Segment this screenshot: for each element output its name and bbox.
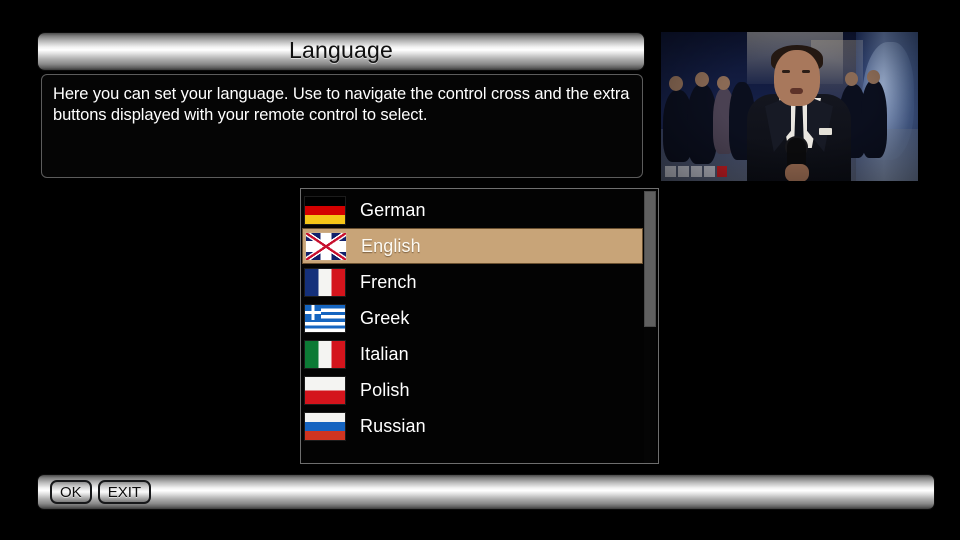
language-row-polish[interactable]: Polish: [302, 372, 643, 408]
language-row-french[interactable]: French: [302, 264, 643, 300]
flag-greece-icon: [305, 305, 345, 332]
ok-button[interactable]: OK: [50, 480, 92, 504]
language-row-greek[interactable]: Greek: [302, 300, 643, 336]
flag-united-kingdom-icon: [306, 233, 346, 260]
language-row-italian[interactable]: Italian: [302, 336, 643, 372]
language-label: Greek: [360, 309, 410, 327]
language-list[interactable]: GermanEnglishFrenchGreekItalianPolishRus…: [300, 188, 659, 464]
exit-button[interactable]: EXIT: [98, 480, 151, 504]
language-label: Russian: [360, 417, 426, 435]
scrollbar-track[interactable]: [644, 191, 656, 463]
language-label: French: [360, 273, 417, 291]
language-label: Italian: [360, 345, 409, 363]
description-text: Here you can set your language. Use to n…: [53, 84, 630, 126]
page-title: Language: [289, 39, 393, 62]
description-panel: Here you can set your language. Use to n…: [41, 74, 643, 178]
flag-france-icon: [305, 269, 345, 296]
bottom-action-bar: OKEXIT: [38, 475, 934, 509]
language-list-rows: GermanEnglishFrenchGreekItalianPolishRus…: [302, 192, 643, 444]
language-label: German: [360, 201, 426, 219]
tv-settings-screen: Language Here you can set your language.…: [0, 0, 960, 540]
flag-russia-icon: [305, 413, 345, 440]
title-bar: Language: [38, 33, 644, 70]
scrollbar-thumb[interactable]: [644, 191, 656, 327]
video-vignette: [661, 32, 918, 181]
language-row-russian[interactable]: Russian: [302, 408, 643, 444]
flag-germany-icon: [305, 197, 345, 224]
language-label: English: [361, 237, 421, 255]
language-label: Polish: [360, 381, 410, 399]
flag-poland-icon: [305, 377, 345, 404]
flag-italy-icon: [305, 341, 345, 368]
video-preview[interactable]: [661, 32, 918, 181]
language-row-german[interactable]: German: [302, 192, 643, 228]
language-row-english[interactable]: English: [302, 228, 643, 264]
